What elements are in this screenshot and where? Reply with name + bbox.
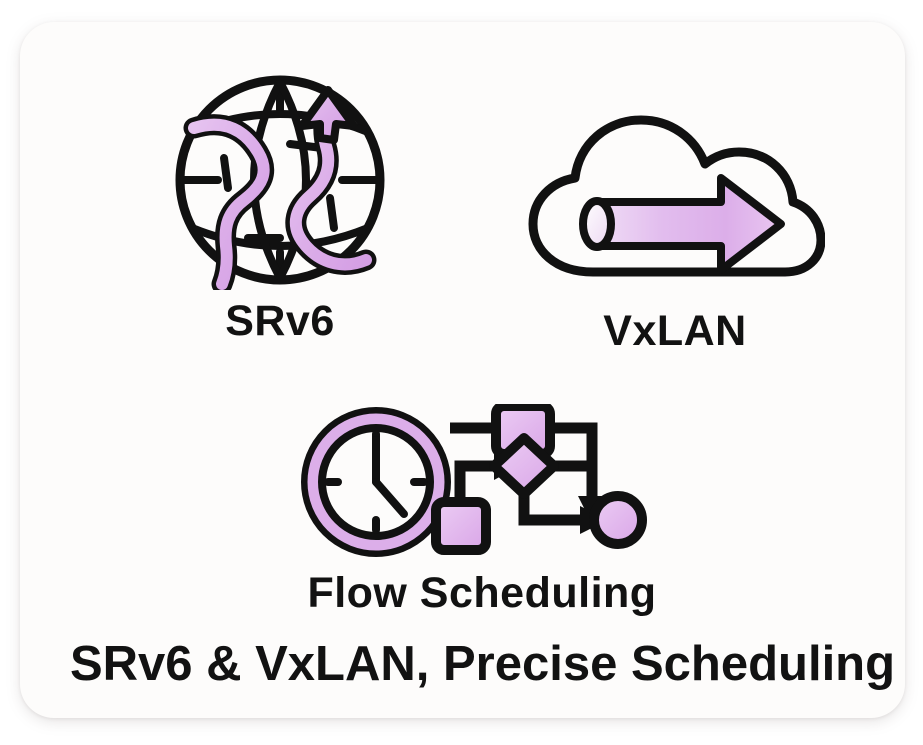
feature-flow-scheduling[interactable]: Flow Scheduling xyxy=(292,404,672,615)
cloud-tunnel-arrow-icon xyxy=(525,108,825,298)
caption-text: SRv6 & VxLAN, Precise Scheduling xyxy=(40,638,923,692)
feature-srv6-label: SRv6 xyxy=(140,300,420,343)
content-card: SRv6 xyxy=(20,22,905,718)
slide-canvas: SRv6 xyxy=(0,0,923,745)
clock-glyph xyxy=(306,412,446,552)
feature-flow-scheduling-label: Flow Scheduling xyxy=(292,572,672,615)
feature-vxlan-label: VxLAN xyxy=(510,310,840,353)
globe-network-paths-icon xyxy=(170,70,390,290)
feature-vxlan[interactable]: VxLAN xyxy=(510,108,840,353)
flow-node-circle xyxy=(594,496,642,544)
clock-flowchart-icon xyxy=(298,404,666,564)
feature-srv6[interactable]: SRv6 xyxy=(140,70,420,343)
flow-node-square-bottom xyxy=(436,502,486,550)
